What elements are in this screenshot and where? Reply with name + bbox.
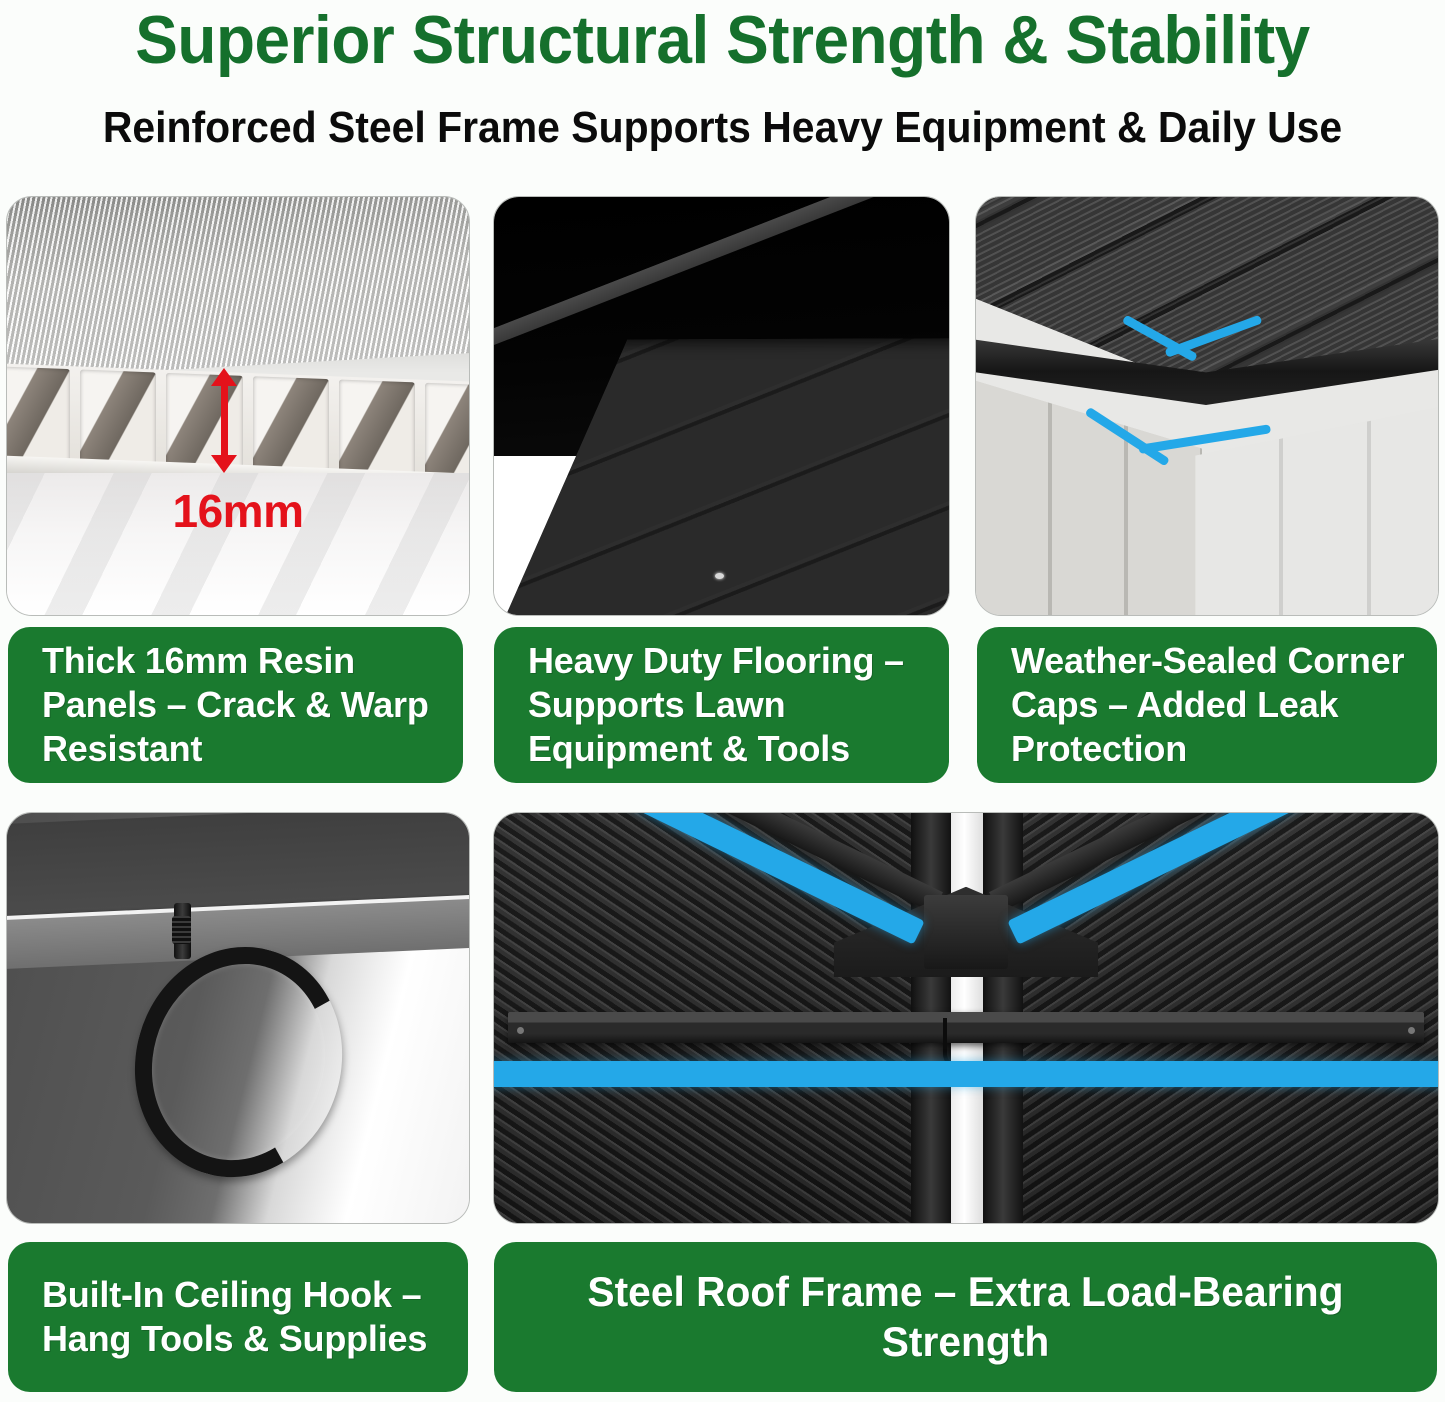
resin-panel-cross-section-photo: 16mm [7,197,469,615]
highlight-line-tie-beam-icon [493,1061,1439,1087]
feature-caption-ceiling-hook: Built-In Ceiling Hook – Hang Tools & Sup… [8,1242,468,1392]
caption-text: Heavy Duty Flooring – Supports Lawn Equi… [494,639,949,771]
feature-image-heavy-duty-flooring [493,196,950,616]
ridge-bracket [924,895,1009,969]
caption-text: Built-In Ceiling Hook – Hang Tools & Sup… [8,1273,468,1361]
heavy-duty-floor-panel-photo [494,197,949,615]
feature-caption-resin-panels: Thick 16mm Resin Panels – Crack & Warp R… [8,627,463,783]
arrow-shaft [221,378,228,463]
steel-roof-frame-interior-photo [494,813,1438,1223]
feature-image-corner-caps [975,196,1439,616]
ceiling-hook-photo [7,813,469,1223]
caption-text: Weather-Sealed Corner Caps – Added Leak … [977,639,1437,771]
page-title: Superior Structural Strength & Stability [43,2,1401,78]
panel-cell [425,382,470,479]
hook-curve [108,923,369,1203]
panel-cell [80,369,156,466]
caption-text: Steel Roof Frame – Extra Load-Bearing St… [508,1267,1423,1367]
caption-text: Thick 16mm Resin Panels – Crack & Warp R… [8,639,463,771]
feature-image-ceiling-hook [6,812,470,1224]
floor-screw [715,573,724,579]
thickness-label: 16mm [7,485,469,537]
highlight-line-lower-icon [1087,406,1272,481]
feature-caption-steel-roof-frame: Steel Roof Frame – Extra Load-Bearing St… [494,1242,1437,1392]
feature-caption-corner-caps: Weather-Sealed Corner Caps – Added Leak … [977,627,1437,783]
feature-image-resin-panels: 16mm [6,196,470,616]
panel-cell [252,376,328,473]
feature-caption-heavy-duty-flooring: Heavy Duty Flooring – Supports Lawn Equi… [494,627,949,783]
hook-thread [172,916,191,944]
panel-cell [6,366,70,463]
arrow-head-down-icon [211,455,237,473]
ceiling-hook-icon [132,903,335,1157]
infographic-page: Superior Structural Strength & Stability… [0,0,1445,1402]
highlight-line-upper-icon [1124,314,1281,389]
panel-cell [338,379,414,476]
feature-image-steel-roof-frame [493,812,1439,1224]
page-subtitle: Reinforced Steel Frame Supports Heavy Eq… [51,102,1395,154]
thickness-measure-arrow-icon [211,368,237,473]
shed-corner-cap-photo [976,197,1438,615]
panel-top-surface [6,196,470,381]
